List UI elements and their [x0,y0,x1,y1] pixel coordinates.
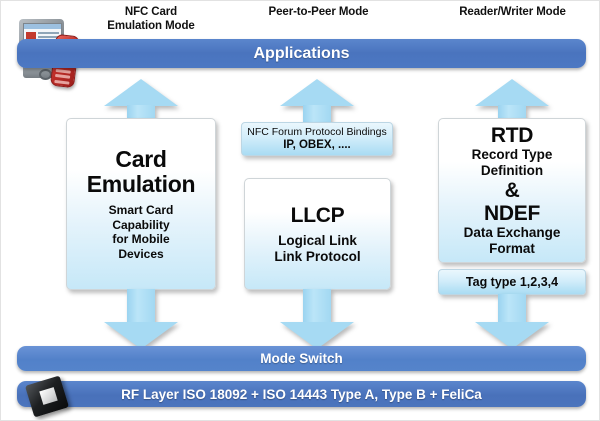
llcp-box: LLCP Logical Link Link Protocol [244,178,391,290]
card-emulation-sub-line3: for Mobile [112,232,169,247]
rtd-title: RTD [491,124,533,147]
mode-label-peer-to-peer: Peer-to-Peer Mode [241,5,396,19]
arrow-up-peer-to-peer [280,79,354,127]
rtd-sub-line2: Definition [481,163,543,179]
card-emulation-title-line2: Emulation [87,172,195,197]
tag-type-label: Tag type 1,2,3,4 [466,275,558,289]
mode-switch-label: Mode Switch [260,351,343,366]
rf-layer-label: RF Layer ISO 18092 + ISO 14443 Type A, T… [121,387,482,402]
nfc-architecture-diagram: NFC Card Emulation Mode Peer-to-Peer Mod… [0,0,600,421]
ndef-sub-line4: Format [489,241,535,257]
ndef-sub-line3: Data Exchange [464,225,561,241]
card-emulation-sub-line2: Capability [112,218,169,233]
ampersand-separator: & [505,179,520,202]
applications-bar: Applications [17,39,586,68]
mode-label-line1: Peer-to-Peer Mode [241,5,396,19]
llcp-sub-line2: Link Protocol [274,249,360,265]
mode-label-line2: Emulation Mode [76,19,226,33]
mode-label-card-emulation: NFC Card Emulation Mode [76,5,226,33]
arrow-down-peer-to-peer [280,289,354,349]
protocol-bindings-line2: IP, OBEX, .... [283,139,351,152]
rf-layer-bar: RF Layer ISO 18092 + ISO 14443 Type A, T… [17,381,586,407]
mode-switch-bar: Mode Switch [17,346,586,371]
card-emulation-sub-line1: Smart Card [109,203,174,218]
card-emulation-title-line1: Card [115,147,166,172]
mode-label-line1: NFC Card [76,5,226,19]
arrow-down-card-emulation [104,289,178,349]
card-emulation-sub-line4: Devices [118,247,163,262]
protocol-bindings-chip: NFC Forum Protocol Bindings IP, OBEX, ..… [241,122,393,156]
llcp-title: LLCP [291,204,345,227]
rtd-sub-line1: Record Type [472,147,553,163]
mode-label-line1: Reader/Writer Mode [435,5,590,19]
ndef-title: NDEF [484,202,540,225]
arrow-down-reader-writer [475,294,549,349]
nfc-chip-icon [19,375,79,421]
llcp-sub-line1: Logical Link [278,233,357,249]
protocol-bindings-line1: NFC Forum Protocol Bindings [247,126,386,139]
rtd-ndef-box: RTD Record Type Definition & NDEF Data E… [438,118,586,263]
tag-type-chip: Tag type 1,2,3,4 [438,269,586,295]
card-emulation-box: Card Emulation Smart Card Capability for… [66,118,216,290]
mode-label-reader-writer: Reader/Writer Mode [435,5,590,19]
applications-label: Applications [253,45,349,63]
